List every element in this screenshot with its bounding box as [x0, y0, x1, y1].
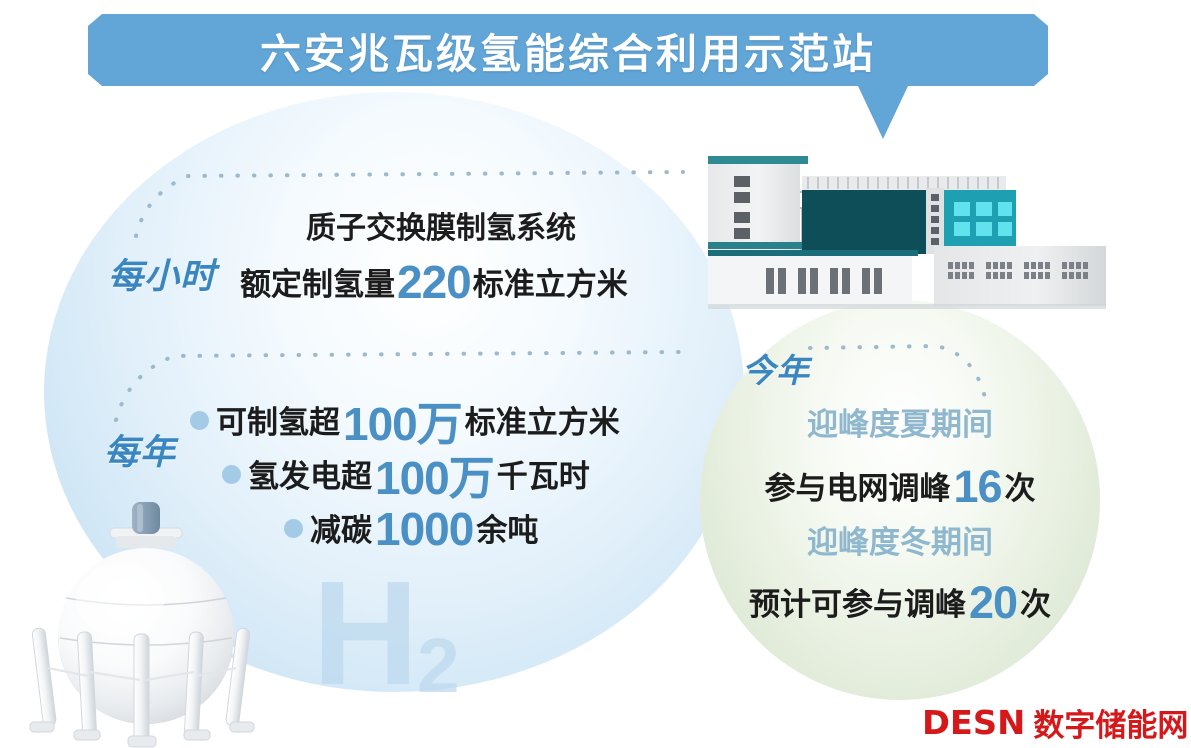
- winter-stat-line: 预计可参与调峰20次: [700, 574, 1100, 626]
- thisyear-period-label: 今年: [742, 344, 810, 392]
- yearly-item-value: 100万: [372, 442, 497, 508]
- yearly-item-unit: 标准立方米: [465, 397, 620, 442]
- infographic-canvas: H2: [0, 0, 1191, 748]
- summer-prefix: 参与电网调峰: [764, 471, 950, 507]
- bullet-dot-icon: [222, 465, 241, 484]
- list-item: 氢发电超 100万 千瓦时: [222, 446, 620, 500]
- hourly-value: 220: [395, 255, 473, 309]
- list-item: 可制氢超 100万 标准立方米: [190, 392, 620, 446]
- power-station-building-illustration: [706, 146, 1106, 314]
- banner-title: 六安兆瓦级氢能综合利用示范站: [88, 14, 1048, 86]
- watermark-name: 数字储能网: [1033, 700, 1188, 745]
- summer-subtitle: 迎峰度夏期间: [807, 407, 993, 443]
- summer-unit: 次: [1005, 471, 1036, 507]
- bullet-dot-icon: [190, 411, 209, 430]
- site-watermark: DESN 数字储能网: [923, 700, 1188, 745]
- summer-subtitle-line: 迎峰度夏期间: [700, 399, 1100, 444]
- summer-value: 16: [950, 461, 1004, 512]
- list-item: 减碳 1000 余吨: [284, 500, 620, 554]
- yearly-item-unit: 千瓦时: [497, 451, 590, 496]
- yearly-item-prefix: 氢发电超: [248, 451, 372, 496]
- hourly-output-line: 额定制氢量 220 标准立方米: [240, 252, 628, 306]
- h2-watermark: H2: [312, 560, 458, 708]
- hourly-period-label: 每小时: [108, 248, 216, 299]
- summer-stat-line: 参与电网调峰16次: [700, 458, 1100, 510]
- winter-value: 20: [966, 577, 1020, 628]
- watermark-brand: DESN: [922, 703, 1025, 742]
- winter-subtitle-line: 迎峰度冬期间: [700, 517, 1100, 562]
- yearly-bullet-list: 可制氢超 100万 标准立方米 氢发电超 100万 千瓦时 减碳 1000 余吨: [190, 392, 620, 554]
- yearly-item-prefix: 减碳: [310, 505, 372, 550]
- h2-letter: H: [312, 551, 417, 716]
- title-banner: 六安兆瓦级氢能综合利用示范站: [88, 14, 1068, 139]
- yearly-item-unit: 余吨: [476, 505, 538, 550]
- winter-subtitle: 迎峰度冬期间: [807, 525, 993, 561]
- h2-subscript: 2: [417, 623, 458, 709]
- winter-prefix: 预计可参与调峰: [749, 587, 966, 623]
- hourly-prefix: 额定制氢量: [240, 259, 395, 304]
- yearly-item-value: 1000: [372, 502, 476, 556]
- yearly-period-label: 每年: [104, 424, 176, 475]
- hourly-unit: 标准立方米: [473, 259, 628, 304]
- yearly-item-prefix: 可制氢超: [216, 397, 340, 442]
- bullet-dot-icon: [284, 519, 303, 538]
- hourly-system-heading: 质子交换膜制氢系统: [306, 203, 576, 247]
- winter-unit: 次: [1020, 587, 1051, 623]
